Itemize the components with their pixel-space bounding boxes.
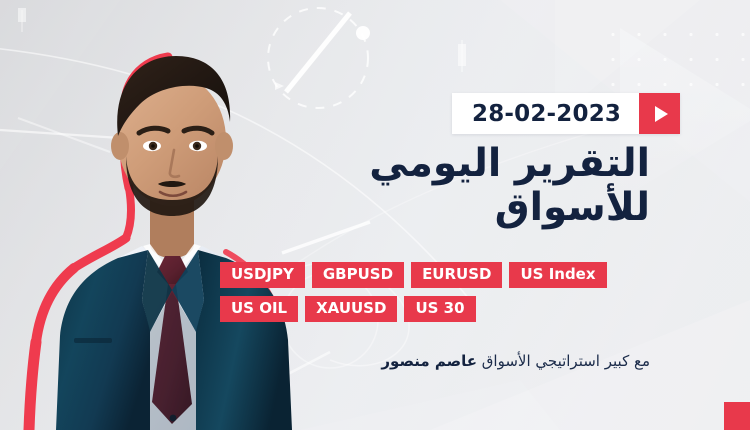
tag-eurusd[interactable]: EURUSD	[411, 262, 502, 288]
daily-market-report-banner: 28-02-2023 التقرير اليومي للأسواق USDJPY…	[0, 0, 750, 430]
tag-gbpusd[interactable]: GBPUSD	[312, 262, 404, 288]
play-triangle-icon	[655, 106, 668, 122]
tag-usdjpy[interactable]: USDJPY	[220, 262, 305, 288]
tag-us-30[interactable]: US 30	[404, 296, 475, 322]
dot-grid-pattern	[596, 18, 746, 96]
play-button[interactable]	[639, 93, 680, 134]
corner-accent-square	[724, 402, 750, 430]
instrument-tag-list: USDJPY GBPUSD EURUSD US Index US OIL XAU…	[220, 262, 650, 330]
tag-row-1: USDJPY GBPUSD EURUSD US Index	[220, 262, 650, 288]
tag-xauusd[interactable]: XAUUSD	[305, 296, 397, 322]
date-badge[interactable]: 28-02-2023	[452, 93, 680, 134]
byline: مع كبير استراتيجي الأسواق عاصم منصور	[220, 352, 650, 370]
date-text: 28-02-2023	[452, 93, 639, 134]
tag-row-2: US OIL XAUUSD US 30	[220, 296, 650, 322]
byline-prefix: مع كبير استراتيجي الأسواق	[477, 352, 650, 370]
white-dot	[356, 26, 370, 40]
tag-us-index[interactable]: US Index	[509, 262, 606, 288]
page-title: التقرير اليومي للأسواق	[230, 143, 650, 229]
byline-presenter-name: عاصم منصور	[381, 352, 477, 370]
tag-us-oil[interactable]: US OIL	[220, 296, 298, 322]
title-line-2: للأسواق	[230, 187, 650, 229]
title-line-1: التقرير اليومي	[230, 143, 650, 185]
